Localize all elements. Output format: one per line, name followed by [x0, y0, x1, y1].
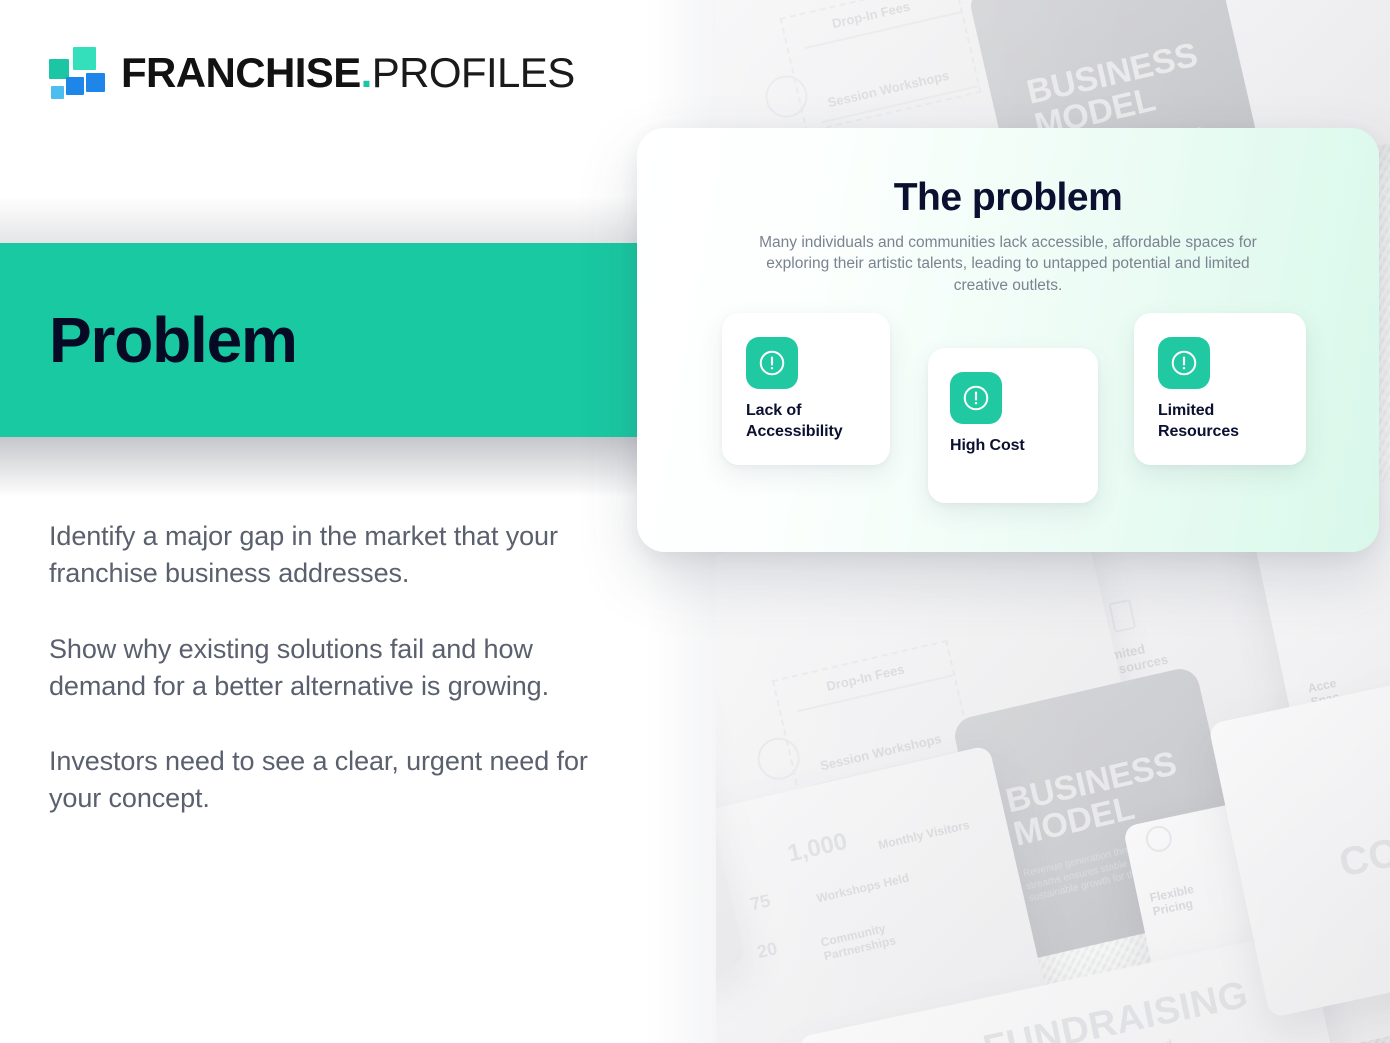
- logo-square-4: [66, 77, 84, 95]
- copy-paragraph-3: Investors need to see a clear, urgent ne…: [49, 743, 619, 818]
- logo-word-profiles: PROFILES: [372, 49, 575, 96]
- bg-competition-title: COM: [1335, 823, 1390, 887]
- body-copy: Identify a major gap in the market that …: [49, 518, 619, 818]
- logo-square-1: [49, 59, 69, 79]
- logo-wordmark: FRANCHISE.PROFILES: [121, 52, 575, 94]
- problem-item-card[interactable]: Limited Resources: [1134, 313, 1306, 465]
- logo-dot: .: [361, 49, 372, 96]
- bg-stat-label: Community Partnerships: [819, 919, 897, 963]
- bg-stat-value: 20: [755, 938, 779, 963]
- logo-mark-icon: [49, 44, 107, 102]
- bg-hourglass-icon: [1108, 599, 1136, 633]
- banner-top-shadow: [0, 196, 638, 244]
- problem-item-label: Lack of Accessibility: [746, 401, 880, 443]
- logo-square-5: [51, 86, 64, 99]
- copy-paragraph-2: Show why existing solutions fail and how…: [49, 631, 619, 706]
- logo-square-3: [86, 73, 105, 92]
- alert-circle-icon: [746, 337, 798, 389]
- bg-feature-label: Flexible Pricing: [1148, 882, 1198, 919]
- bg-stat-value: 75: [748, 890, 772, 915]
- problem-item-label: Limited Resources: [1158, 401, 1296, 443]
- bg-stat-label: Monthly Visitors: [877, 818, 971, 853]
- slide-canvas: Drop-In Fees Session Workshops Commissio…: [0, 0, 1390, 1043]
- problem-item-card[interactable]: Lack of Accessibility: [722, 313, 890, 465]
- problem-card-title: The problem: [637, 176, 1379, 220]
- page-title: Problem: [49, 308, 297, 372]
- brand-logo[interactable]: FRANCHISE.PROFILES: [49, 44, 575, 102]
- bg-stat-label: Workshops Held: [815, 871, 910, 906]
- alert-circle-icon: [950, 372, 1002, 424]
- alert-circle-icon: [1158, 337, 1210, 389]
- banner-bottom-shadow: [0, 437, 638, 497]
- bg-stat-value: 1,000: [785, 828, 850, 869]
- section-banner: Problem: [0, 243, 638, 437]
- logo-word-franchise: FRANCHISE: [121, 49, 361, 96]
- problem-item-label: High Cost: [950, 436, 1088, 457]
- problem-preview-card[interactable]: The problem Many individuals and communi…: [637, 128, 1379, 552]
- problem-item-card[interactable]: High Cost: [928, 348, 1098, 503]
- bg-money-icon: [1143, 823, 1174, 854]
- problem-card-subtitle: Many individuals and communities lack ac…: [758, 232, 1258, 296]
- logo-square-2: [73, 47, 96, 70]
- copy-paragraph-1: Identify a major gap in the market that …: [49, 518, 619, 593]
